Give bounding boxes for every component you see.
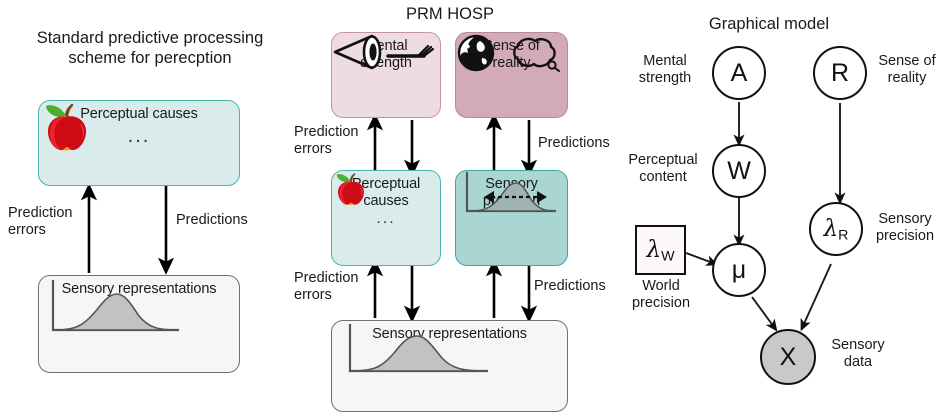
box-sensory-precision: Sensory precision (455, 170, 568, 266)
gaussian-curve-plot (39, 278, 189, 340)
reality-icons (456, 34, 560, 72)
box-label: Perceptual causes (80, 106, 198, 123)
fruit-row: ... (376, 210, 395, 234)
apple-fruit-icon (39, 101, 95, 153)
panel-prm-hosp: PRM HOSP Mental strength (300, 0, 600, 415)
ellipsis-label: ... (376, 210, 395, 234)
node-symbol: R (831, 59, 849, 88)
node-W: W (712, 144, 766, 198)
eye-icon (335, 36, 380, 68)
node-A: A (712, 46, 766, 100)
panel-standard-scheme: Standard predictive processing scheme fo… (0, 0, 300, 415)
globe-icon (459, 36, 493, 70)
node-label-lambdaW: World precision (612, 278, 710, 312)
node-label-R: Sense of reality (872, 53, 938, 87)
ellipsis-label: ... (128, 125, 151, 154)
edge-lambdaR-to-X (803, 264, 831, 326)
fruit-row: ... (128, 125, 151, 154)
arrow-icon (388, 46, 433, 56)
box-sensory-representations-middle: Sensory representations (331, 320, 568, 412)
node-label-A: Mental strength (622, 53, 708, 87)
thought-bubble-icon (514, 39, 559, 71)
edge-lambdaW-to-mu (686, 253, 713, 263)
box-perceptual-causes-middle: Perceptual causes ... (331, 170, 441, 266)
gaussian-width-arrow-plot (456, 171, 560, 219)
node-symbol: λR (824, 215, 849, 244)
node-symbol: X (780, 343, 797, 372)
edge-mu-to-X (752, 297, 774, 327)
node-symbol: μ (732, 256, 746, 285)
box-perceptual-causes-left: Perceptual causes ... (38, 100, 240, 186)
node-label-W: Perceptual content (616, 152, 710, 186)
apple-fruit-icon (332, 171, 370, 207)
node-lambdaR: λR (809, 202, 863, 256)
node-symbol: λW (646, 236, 674, 265)
mental-strength-icons (332, 34, 434, 70)
edge-label-pe-upper: Prediction errors (294, 124, 378, 158)
node-label-X: Sensory data (819, 337, 897, 371)
gaussian-curve-plot (332, 323, 500, 381)
edge-label-prediction-errors: Prediction errors (8, 205, 86, 239)
edge-label-predictions: Predictions (176, 212, 286, 229)
node-R: R (813, 46, 867, 100)
node-mu: μ (712, 243, 766, 297)
node-X: X (760, 329, 816, 385)
panel-graphical-model: Graphical model A Mental strength R Sens… (600, 0, 938, 415)
node-lambdaW: λW (635, 225, 686, 275)
edge-label-pe-lower: Prediction errors (294, 270, 378, 304)
box-sensory-representations-left: Sensory representations (38, 275, 240, 373)
node-symbol: W (727, 157, 751, 186)
box-sense-of-reality: Sense of reality (455, 32, 568, 118)
figure-canvas: Standard predictive processing scheme fo… (0, 0, 938, 415)
box-mental-strength: Mental strength (331, 32, 441, 118)
node-symbol: A (731, 59, 748, 88)
node-label-lambdaR: Sensory precision (868, 211, 938, 245)
